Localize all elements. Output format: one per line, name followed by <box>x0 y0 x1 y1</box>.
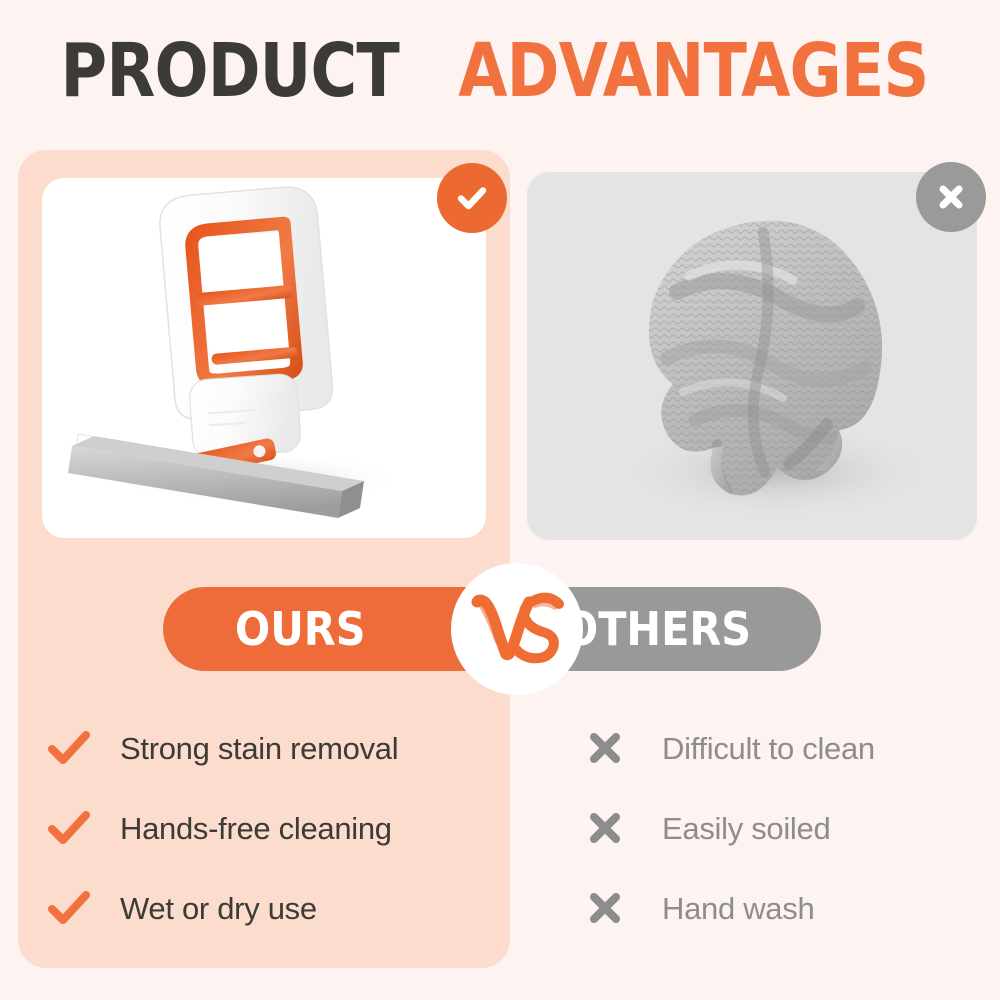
ours-product-image-card <box>42 178 486 538</box>
list-item: Wet or dry use <box>48 868 498 948</box>
list-item: Strong stain removal <box>48 708 498 788</box>
others-cross-badge <box>916 162 986 232</box>
check-icon <box>48 891 94 925</box>
vs-circle <box>451 563 583 695</box>
list-item-label: Hands-free cleaning <box>120 813 392 844</box>
others-pill-label: OTHERS <box>563 606 751 652</box>
squeegee-mop-image <box>42 178 486 538</box>
others-product-image-card <box>527 172 977 540</box>
vs-script-icon <box>465 586 569 672</box>
cross-icon <box>931 177 971 217</box>
others-feature-list: Difficult to clean Easily soiled Hand wa… <box>588 708 968 948</box>
ours-pill-label: OURS <box>235 606 366 652</box>
page-title: PRODUCTADVANTAGES <box>0 34 1000 108</box>
microfiber-towel-image <box>527 172 977 540</box>
list-item: Hand wash <box>588 868 968 948</box>
cross-icon <box>588 811 634 845</box>
check-icon <box>452 178 492 218</box>
list-item: Hands-free cleaning <box>48 788 498 868</box>
ours-check-badge <box>437 163 507 233</box>
list-item: Difficult to clean <box>588 708 968 788</box>
page-title-advantages: ADVANTAGES <box>459 34 929 108</box>
list-item-label: Difficult to clean <box>662 733 875 764</box>
check-icon <box>48 731 94 765</box>
list-item: Easily soiled <box>588 788 968 868</box>
cross-icon <box>588 891 634 925</box>
list-item-label: Wet or dry use <box>120 893 317 924</box>
vs-banner: OURS OTHERS <box>163 587 821 671</box>
ours-feature-list: Strong stain removal Hands-free cleaning… <box>48 708 498 948</box>
list-item-label: Easily soiled <box>662 813 830 844</box>
list-item-label: Hand wash <box>662 893 814 924</box>
check-icon <box>48 811 94 845</box>
list-item-label: Strong stain removal <box>120 733 398 764</box>
cross-icon <box>588 731 634 765</box>
page-title-product: PRODUCT <box>60 34 398 108</box>
